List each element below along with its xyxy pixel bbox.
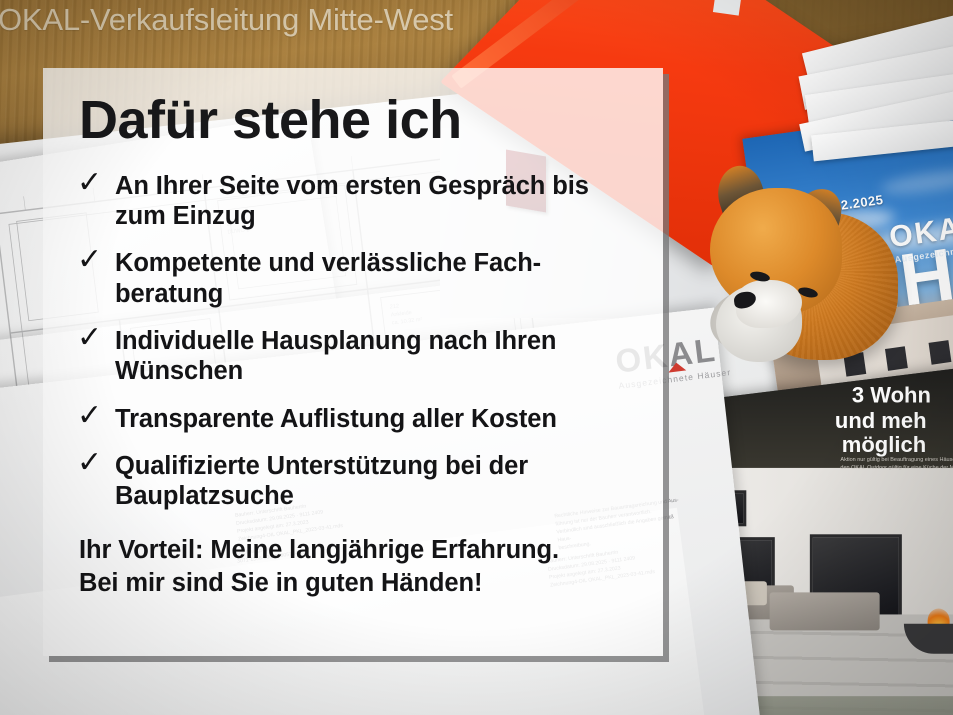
screenshot-root: 214 DUWO 2 212 Ankleide ca. 10.32 m² 211…	[0, 0, 953, 715]
list-item-label: Kompetente und verlässliche Fach-beratun…	[115, 249, 541, 307]
closing-line-2: Bei mir sind Sie in guten Händen!	[79, 567, 637, 600]
terrace-sofa	[770, 592, 880, 630]
fox-head	[710, 188, 842, 314]
terrace-headline-line1: 3 Wohn	[852, 383, 931, 409]
list-item: ✓ Individuelle Hausplanung nach Ihren Wü…	[69, 326, 637, 387]
check-icon: ✓	[77, 398, 102, 434]
check-icon: ✓	[77, 242, 102, 278]
terrace-fine-print: Aktion nur gültig bei Beauftragung eines…	[840, 456, 953, 472]
page-title: Dafür stehe ich	[79, 92, 637, 149]
list-item-label: Transparente Auflistung aller Kosten	[115, 405, 557, 433]
list-item-label: Qualifizierte Unterstützung bei der Baup…	[115, 452, 528, 510]
closing-line-1: Ihr Vorteil: Meine langjährige Erfahrung…	[79, 534, 637, 567]
closing-statement: Ihr Vorteil: Meine langjährige Erfahrung…	[79, 534, 637, 600]
brochure-house-window	[929, 340, 952, 365]
list-item: ✓ An Ihrer Seite vom ersten Gespräch bis…	[69, 171, 637, 232]
check-icon: ✓	[77, 445, 102, 481]
list-item-label: An Ihrer Seite vom ersten Gespräch bis z…	[115, 172, 589, 230]
list-item: ✓ Qualifizierte Unterstützung bei der Ba…	[69, 451, 637, 512]
list-item: ✓ Transparente Auflistung aller Kosten	[69, 404, 637, 434]
check-icon: ✓	[77, 165, 102, 201]
list-item-label: Individuelle Hausplanung nach Ihren Wüns…	[115, 327, 556, 385]
plush-fox	[690, 150, 910, 370]
watermark-label: OKAL-Verkaufsleitung Mitte-West	[0, 2, 453, 38]
terrace-headline-line2: und meh	[835, 408, 927, 434]
check-icon: ✓	[77, 320, 102, 356]
terrace-headline-line3: möglich	[842, 432, 926, 458]
benefits-checklist: ✓ An Ihrer Seite vom ersten Gespräch bis…	[69, 171, 637, 512]
list-item: ✓ Kompetente und verlässliche Fach-berat…	[69, 248, 637, 309]
content-card: Dafür stehe ich ✓ An Ihrer Seite vom ers…	[43, 68, 663, 656]
